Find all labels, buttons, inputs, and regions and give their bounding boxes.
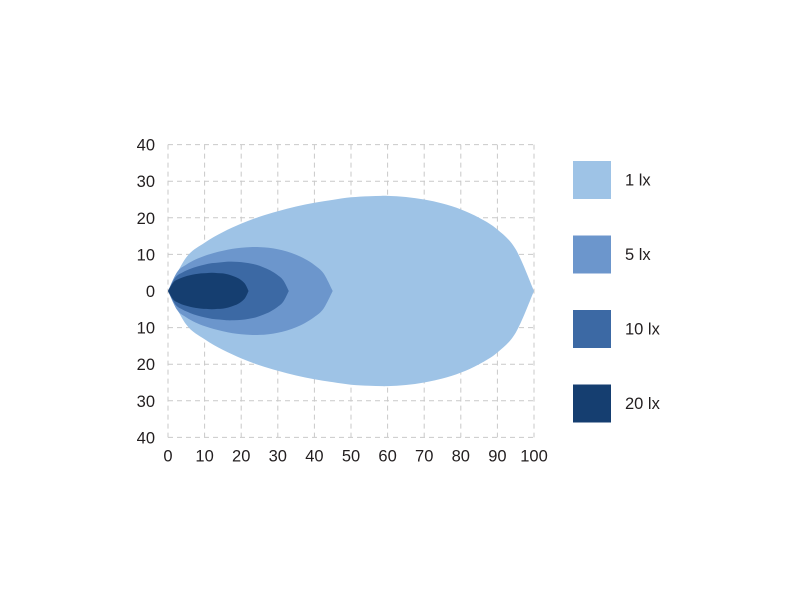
x-tick-label: 70 xyxy=(415,447,433,465)
legend-label: 10 lx xyxy=(625,320,661,338)
x-tick-label: 100 xyxy=(520,447,548,465)
x-tick-label: 0 xyxy=(163,447,172,465)
x-tick-label: 10 xyxy=(195,447,213,465)
y-tick-label: 40 xyxy=(137,429,155,447)
legend-swatch xyxy=(573,310,611,348)
y-tick-label: 30 xyxy=(137,393,155,411)
legend-label: 1 lx xyxy=(625,171,651,189)
x-tick-label: 30 xyxy=(269,447,287,465)
y-tick-label: 20 xyxy=(137,356,155,374)
legend-swatch xyxy=(573,236,611,274)
y-tick-label: 20 xyxy=(137,210,155,228)
y-tick-label: 0 xyxy=(146,283,155,301)
y-tick-label: 10 xyxy=(137,320,155,338)
x-tick-label: 90 xyxy=(488,447,506,465)
x-tick-label: 20 xyxy=(232,447,250,465)
x-tick-label: 50 xyxy=(342,447,360,465)
legend-swatch xyxy=(573,161,611,199)
y-tick-label: 30 xyxy=(137,173,155,191)
chart-canvas: 0102030405060708090100 40302010010203040… xyxy=(0,0,800,600)
legend-label: 5 lx xyxy=(625,246,651,264)
legend-label: 20 lx xyxy=(625,395,661,413)
y-tick-label: 10 xyxy=(137,246,155,264)
y-tick-label: 40 xyxy=(137,137,155,155)
x-tick-label: 60 xyxy=(378,447,396,465)
legend-swatch xyxy=(573,385,611,423)
x-tick-label: 80 xyxy=(452,447,470,465)
light-distribution-chart: 0102030405060708090100 40302010010203040… xyxy=(0,0,800,600)
x-tick-label: 40 xyxy=(305,447,323,465)
